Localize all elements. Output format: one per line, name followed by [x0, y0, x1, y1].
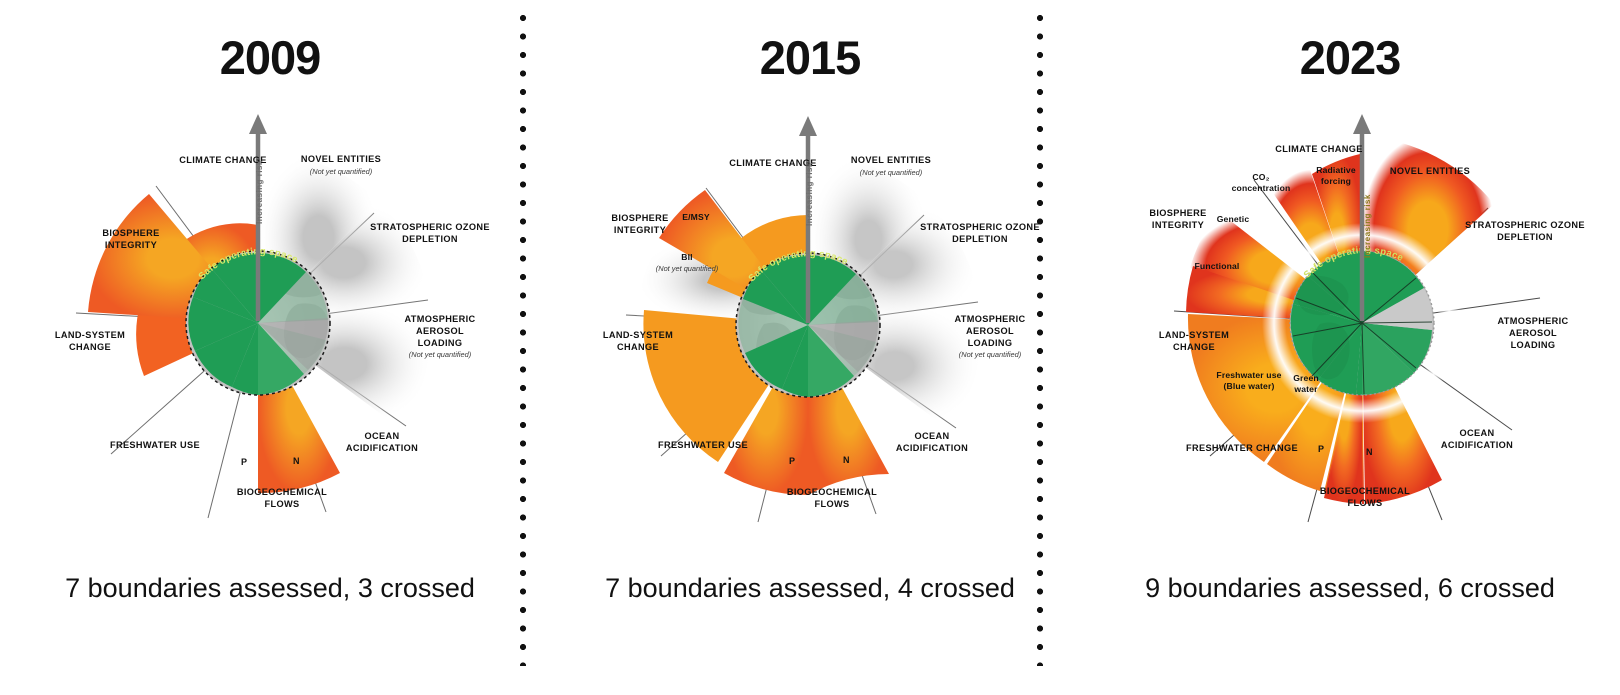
panel-2009: 2009	[0, 0, 540, 695]
label-biogeochemical-flows: BIOGEOCHEMICAL FLOWS	[212, 487, 352, 511]
panel-2015: 2015	[540, 0, 1080, 695]
panel-title-2009: 2009	[0, 30, 540, 85]
label-biosphere-integrity: BIOSPHERE INTEGRITY	[83, 228, 179, 252]
label-land-system-change: LAND-SYSTEM CHANGE	[586, 330, 690, 354]
label-biogeochemical-n: N	[843, 455, 850, 465]
label-biogeochemical-flows: BIOGEOCHEMICAL FLOWS	[1295, 486, 1435, 510]
label-biogeochemical-p: P	[241, 457, 247, 467]
label-biogeochemical-n: N	[293, 456, 300, 466]
label-land-system-change: LAND-SYSTEM CHANGE	[38, 330, 142, 354]
label-ocean-acidification: OCEAN ACIDIFICATION	[1425, 428, 1529, 452]
label-stratospheric-ozone: STRATOSPHERIC OZONE DEPLETION	[1463, 220, 1587, 244]
label-freshwater-change: FRESHWATER CHANGE	[1172, 443, 1312, 455]
label-stratospheric-ozone: STRATOSPHERIC OZONE DEPLETION	[370, 222, 490, 246]
label-biogeochemical-p: P	[1318, 444, 1324, 454]
label-novel-entities: NOVEL ENTITIES(Not yet quantified)	[836, 155, 946, 177]
panel-2023: 2023	[1080, 0, 1620, 695]
label-biogeochemical-flows: BIOGEOCHEMICAL FLOWS	[762, 487, 902, 511]
label-stratospheric-ozone: STRATOSPHERIC OZONE DEPLETION	[920, 222, 1040, 246]
label-climate-change: CLIMATE CHANGE	[1264, 144, 1374, 156]
label-novel-entities: NOVEL ENTITIES(Not yet quantified)	[286, 154, 396, 176]
label-emsy: E/MSY	[666, 212, 726, 223]
caption-2023: 9 boundaries assessed, 6 crossed	[1080, 572, 1620, 605]
label-co2-concentration: CO₂ concentration	[1228, 172, 1294, 194]
label-land-system-change: LAND-SYSTEM CHANGE	[1142, 330, 1246, 354]
panel-title-2015: 2015	[540, 30, 1080, 85]
label-novel-entities: NOVEL ENTITIES	[1375, 166, 1485, 178]
caption-2009: 7 boundaries assessed, 3 crossed	[0, 572, 540, 605]
increasing-risk-label: Increasing risk	[1363, 182, 1372, 258]
label-freshwater-use: FRESHWATER USE	[644, 440, 762, 452]
label-biogeochemical-p: P	[789, 456, 795, 466]
label-green-water: Green water	[1282, 373, 1330, 395]
label-atmospheric-aerosol: ATMOSPHERIC AEROSOL LOADING(Not yet quan…	[385, 314, 495, 360]
label-genetic: Genetic	[1206, 214, 1260, 225]
label-ocean-acidification: OCEAN ACIDIFICATION	[330, 431, 434, 455]
increasing-risk-label: Increasing risk	[255, 148, 264, 224]
panel-divider-2	[1036, 14, 1044, 666]
panel-divider-1	[519, 14, 527, 666]
label-freshwater-use: FRESHWATER USE	[96, 440, 214, 452]
label-atmospheric-aerosol: ATMOSPHERIC AEROSOL LOADING(Not yet quan…	[935, 314, 1045, 360]
panels-container: 2009	[0, 0, 1620, 695]
label-atmospheric-aerosol: ATMOSPHERIC AEROSOL LOADING	[1480, 316, 1586, 351]
panel-title-2023: 2023	[1080, 30, 1620, 85]
label-radiative-forcing: Radiative forcing	[1306, 165, 1366, 187]
increasing-risk-label: Increasing risk	[805, 150, 814, 226]
label-bii: BII(Not yet quantified)	[648, 252, 726, 273]
label-functional: Functional	[1184, 261, 1250, 272]
label-biogeochemical-n: N	[1366, 447, 1373, 457]
caption-2015: 7 boundaries assessed, 4 crossed	[540, 572, 1080, 605]
label-ocean-acidification: OCEAN ACIDIFICATION	[880, 431, 984, 455]
label-blue-water: Freshwater use (Blue water)	[1208, 370, 1290, 392]
